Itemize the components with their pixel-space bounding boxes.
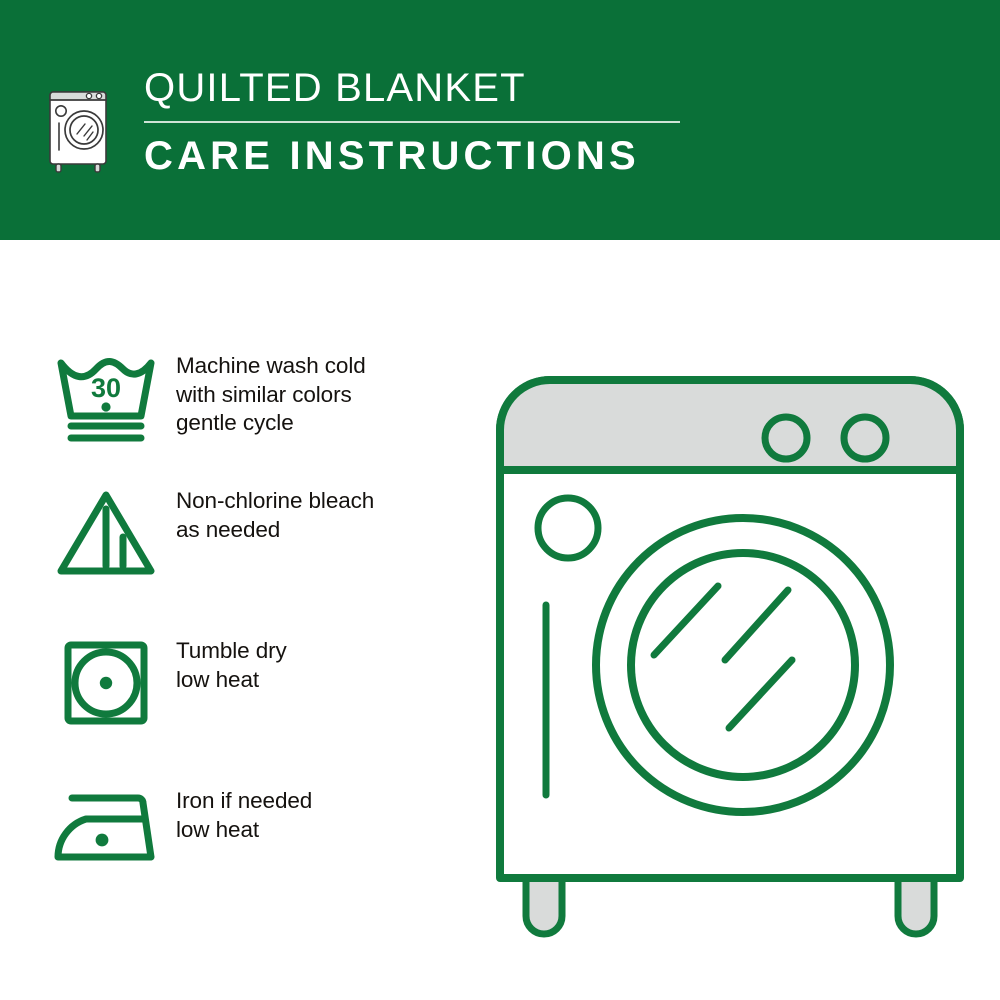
iron-heat-dot — [96, 834, 109, 847]
care-text-line: low heat — [176, 816, 480, 845]
care-instruction-list: 30 Machine wash cold with similar colors… — [0, 240, 480, 1000]
detergent-dial — [538, 498, 598, 558]
care-text-line: Tumble dry — [176, 637, 480, 666]
care-text-line: low heat — [176, 666, 480, 695]
care-text-line: gentle cycle — [176, 409, 480, 438]
page-subtitle: CARE INSTRUCTIONS — [144, 133, 680, 179]
care-item-tumble-dry: Tumble dry low heat — [0, 635, 480, 731]
wash-temperature-label: 30 — [91, 373, 121, 403]
care-text-line: Non-chlorine bleach — [176, 487, 480, 516]
care-item-iron-text: Iron if needed low heat — [176, 785, 480, 844]
care-item-wash-text: Machine wash cold with similar colors ge… — [176, 350, 480, 438]
tumble-dry-heat-dot — [100, 677, 112, 689]
wash-tub-icon: 30 — [51, 350, 161, 446]
iron-icon — [50, 785, 162, 869]
care-text-line: with similar colors — [176, 381, 480, 410]
bleach-symbol-container — [46, 485, 166, 581]
tumble-dry-symbol-container — [46, 635, 166, 731]
care-item-bleach-text: Non-chlorine bleach as needed — [176, 485, 480, 544]
iron-symbol-container — [46, 785, 166, 869]
header-content: QUILTED BLANKET CARE INSTRUCTIONS — [44, 64, 680, 182]
care-item-bleach: Non-chlorine bleach as needed — [0, 485, 480, 581]
care-text-line: Machine wash cold — [176, 352, 480, 381]
care-item-iron: Iron if needed low heat — [0, 785, 480, 869]
title-divider — [144, 121, 680, 123]
door-inner-ring — [631, 553, 855, 777]
header-title-group: QUILTED BLANKET CARE INSTRUCTIONS — [144, 64, 680, 179]
leg-left — [526, 878, 562, 934]
header-banner: QUILTED BLANKET CARE INSTRUCTIONS — [0, 0, 1000, 240]
knob-right — [844, 417, 886, 459]
knob-left — [765, 417, 807, 459]
care-item-tumble-dry-text: Tumble dry low heat — [176, 635, 480, 694]
care-item-wash: 30 Machine wash cold with similar colors… — [0, 350, 480, 446]
care-text-line: as needed — [176, 516, 480, 545]
leg-right — [898, 878, 934, 934]
care-instructions-page: QUILTED BLANKET CARE INSTRUCTIONS 30 — [0, 0, 1000, 1000]
washing-machine-illustration — [490, 330, 970, 950]
control-panel — [500, 380, 960, 470]
wash-symbol-container: 30 — [46, 350, 166, 446]
washing-machine-icon — [44, 70, 116, 182]
care-text-line: Iron if needed — [176, 787, 480, 816]
bleach-triangle-icon — [52, 485, 160, 581]
page-title: QUILTED BLANKET — [144, 64, 680, 112]
tumble-dry-icon — [58, 635, 154, 731]
wash-dot — [101, 402, 110, 411]
